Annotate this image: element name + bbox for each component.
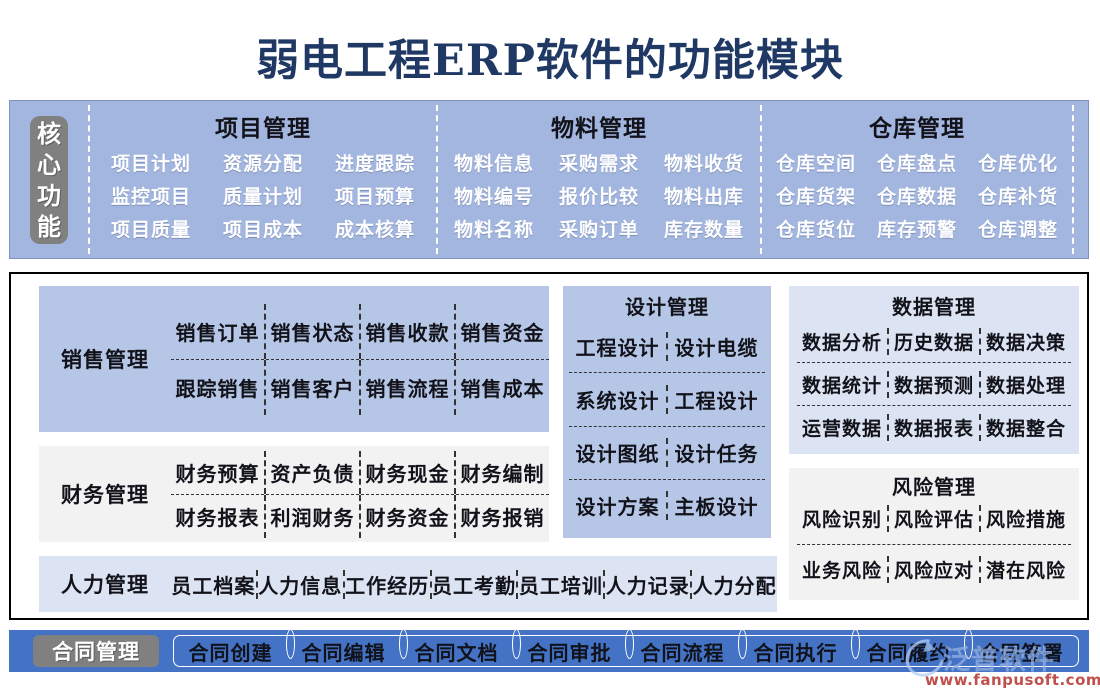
module-row: 数据统计 数据预测 数据处理 <box>797 362 1071 405</box>
group-row: 物料名称 采购订单 库存数量 <box>438 213 760 244</box>
group-item[interactable]: 仓库优化 <box>968 147 1069 178</box>
core-badge-char-2: 心 <box>37 149 61 180</box>
module-item[interactable]: 数据决策 <box>979 328 1071 355</box>
brand-url: www.fanpusoft.com <box>925 671 1100 689</box>
module-item[interactable]: 销售成本 <box>454 360 549 415</box>
module-item[interactable]: 数据预测 <box>887 371 979 398</box>
group-item[interactable]: 物料收货 <box>652 147 757 178</box>
module-label: 人力管理 <box>39 569 171 599</box>
diagram-canvas: 弱电工程ERP软件的功能模块 核 心 功 能 项目管理 项目计划 资源分配 进度… <box>0 0 1100 700</box>
core-badge-wrapper: 核 心 功 能 <box>10 101 88 258</box>
module-hr-management: 人力管理 员工档案 人力信息 工作经历 员工考勤 员工培训 人力记录 人力分配 <box>39 556 777 612</box>
group-row: 物料信息 采购需求 物料收货 <box>438 147 760 178</box>
group-item[interactable]: 库存预警 <box>867 213 968 244</box>
module-item[interactable]: 设计任务 <box>666 438 765 467</box>
group-item[interactable]: 仓库数据 <box>867 180 968 211</box>
module-item[interactable]: 财务报销 <box>454 495 549 538</box>
contract-item[interactable]: 合同签署 <box>965 637 1078 666</box>
modules-frame: 销售管理 销售订单 销售状态 销售收款 销售资金 跟踪销售 销售客户 销售流程 … <box>9 272 1089 620</box>
group-item[interactable]: 项目预算 <box>319 180 431 211</box>
group-item[interactable]: 进度跟踪 <box>319 147 431 178</box>
group-item[interactable]: 物料名称 <box>442 213 547 244</box>
group-row: 项目计划 资源分配 进度跟踪 <box>90 147 436 178</box>
module-item[interactable]: 历史数据 <box>887 328 979 355</box>
left-column: 销售管理 销售订单 销售状态 销售收款 销售资金 跟踪销售 销售客户 销售流程 … <box>39 286 549 612</box>
module-items: 员工档案 人力信息 工作经历 员工考勤 员工培训 人力记录 人力分配 <box>171 570 777 599</box>
module-label: 销售管理 <box>39 344 171 374</box>
module-design-management: 设计管理 工程设计 设计电缆 系统设计 工程设计 设计图纸 设计任务 <box>563 286 771 538</box>
core-badge-char-3: 功 <box>37 180 61 211</box>
contract-management-badge: 合同管理 <box>33 635 159 667</box>
module-item[interactable]: 员工培训 <box>516 570 603 599</box>
module-data-management: 数据管理 数据分析 历史数据 数据决策 数据统计 数据预测 数据处理 运营数据 <box>789 286 1079 454</box>
page-title: 弱电工程ERP软件的功能模块 <box>0 26 1100 88</box>
group-items: 物料信息 采购需求 物料收货 物料编号 报价比较 物料出库 物料名称 采购订单 … <box>438 147 760 244</box>
module-item[interactable]: 财务现金 <box>359 451 454 494</box>
module-item[interactable]: 风险识别 <box>797 505 887 532</box>
group-row: 仓库货位 库存预警 仓库调整 <box>762 213 1072 244</box>
module-item[interactable]: 财务编制 <box>454 451 549 494</box>
module-item[interactable]: 潜在风险 <box>979 556 1071 583</box>
group-row: 项目质量 项目成本 成本核算 <box>90 213 436 244</box>
group-item[interactable]: 物料信息 <box>442 147 547 178</box>
module-row: 设计图纸 设计任务 <box>569 426 765 479</box>
group-item[interactable]: 质量计划 <box>207 180 319 211</box>
group-items: 项目计划 资源分配 进度跟踪 监控项目 质量计划 项目预算 项目质量 项目成本 … <box>90 147 436 244</box>
contract-item[interactable]: 合同创建 <box>174 637 287 666</box>
middle-column: 设计管理 工程设计 设计电缆 系统设计 工程设计 设计图纸 设计任务 <box>563 286 771 538</box>
group-item[interactable]: 物料编号 <box>442 180 547 211</box>
module-title: 数据管理 <box>789 286 1079 320</box>
module-item[interactable]: 工程设计 <box>666 385 765 414</box>
group-item[interactable]: 项目成本 <box>207 213 319 244</box>
module-item[interactable]: 系统设计 <box>569 385 666 414</box>
group-item[interactable]: 库存数量 <box>652 213 757 244</box>
core-badge-char-4: 能 <box>37 211 61 242</box>
group-item[interactable]: 仓库空间 <box>766 147 867 178</box>
contract-item[interactable]: 合同编辑 <box>287 637 400 666</box>
module-item[interactable]: 人力分配 <box>690 570 777 599</box>
module-item[interactable]: 数据处理 <box>979 371 1071 398</box>
module-row: 工程设计 设计电缆 <box>569 320 765 372</box>
module-row: 运营数据 数据报表 数据整合 <box>797 405 1071 448</box>
group-row: 物料编号 报价比较 物料出库 <box>438 180 760 211</box>
group-title: 物料管理 <box>551 109 647 143</box>
group-item[interactable]: 物料出库 <box>652 180 757 211</box>
module-item[interactable]: 财务资金 <box>359 495 454 538</box>
module-item[interactable]: 销售收款 <box>359 304 454 359</box>
module-grid: 财务预算 资产负债 财务现金 财务编制 财务报表 利润财务 财务资金 财务报销 <box>171 451 549 538</box>
module-item[interactable]: 数据整合 <box>979 414 1071 441</box>
contract-item[interactable]: 合同文档 <box>400 637 513 666</box>
module-row: 财务预算 资产负债 财务现金 财务编制 <box>171 451 549 494</box>
module-grid: 工程设计 设计电缆 系统设计 工程设计 设计图纸 设计任务 设计方案 主板设计 <box>563 320 771 538</box>
group-title: 仓库管理 <box>869 109 965 143</box>
group-project-management: 项目管理 项目计划 资源分配 进度跟踪 监控项目 质量计划 项目预算 项目质量 … <box>90 101 436 258</box>
module-item[interactable]: 业务风险 <box>797 556 887 583</box>
module-label: 财务管理 <box>39 479 171 509</box>
module-item[interactable]: 工作经历 <box>343 570 430 599</box>
module-item[interactable]: 人力信息 <box>256 570 343 599</box>
group-item[interactable]: 仓库补货 <box>968 180 1069 211</box>
group-material-management: 物料管理 物料信息 采购需求 物料收货 物料编号 报价比较 物料出库 物料名称 … <box>438 101 760 258</box>
group-item[interactable]: 仓库货位 <box>766 213 867 244</box>
module-item[interactable]: 员工考勤 <box>430 570 517 599</box>
module-item[interactable]: 设计图纸 <box>569 438 666 467</box>
group-item[interactable]: 项目计划 <box>95 147 207 178</box>
module-item[interactable]: 设计电缆 <box>666 332 765 361</box>
contract-item[interactable]: 合同流程 <box>626 637 739 666</box>
contract-management-bar: 合同管理 合同创建 合同编辑 合同文档 合同审批 合同流程 合同执行 合同履约 … <box>9 630 1089 672</box>
group-title: 项目管理 <box>215 109 311 143</box>
group-row: 仓库空间 仓库盘点 仓库优化 <box>762 147 1072 178</box>
module-item[interactable]: 员工档案 <box>171 570 256 599</box>
module-sales-management: 销售管理 销售订单 销售状态 销售收款 销售资金 跟踪销售 销售客户 销售流程 … <box>39 286 549 432</box>
module-item[interactable]: 跟踪销售 <box>171 360 264 415</box>
module-item[interactable]: 数据分析 <box>797 328 887 355</box>
module-grid: 数据分析 历史数据 数据决策 数据统计 数据预测 数据处理 运营数据 数据报表 … <box>789 320 1079 454</box>
module-grid: 风险识别 风险评估 风险措施 业务风险 风险应对 潜在风险 <box>789 494 1079 600</box>
core-badge-char-1: 核 <box>37 118 61 149</box>
group-warehouse-management: 仓库管理 仓库空间 仓库盘点 仓库优化 仓库货架 仓库数据 仓库补货 仓库货位 … <box>762 101 1072 258</box>
module-item[interactable]: 设计方案 <box>569 491 666 520</box>
module-item[interactable]: 数据统计 <box>797 371 887 398</box>
group-item[interactable]: 报价比较 <box>547 180 652 211</box>
module-item[interactable]: 财务报表 <box>171 495 264 538</box>
group-item[interactable]: 仓库盘点 <box>867 147 968 178</box>
contract-item[interactable]: 合同执行 <box>739 637 852 666</box>
module-row: 风险识别 风险评估 风险措施 <box>797 494 1071 544</box>
group-item[interactable]: 仓库调整 <box>968 213 1069 244</box>
module-risk-management: 风险管理 风险识别 风险评估 风险措施 业务风险 风险应对 潜在风险 <box>789 468 1079 600</box>
module-item[interactable]: 销售流程 <box>359 360 454 415</box>
module-item[interactable]: 销售客户 <box>264 360 359 415</box>
contract-item[interactable]: 合同审批 <box>513 637 626 666</box>
contract-items-pill: 合同创建 合同编辑 合同文档 合同审批 合同流程 合同执行 合同履约 合同签署 <box>173 635 1079 667</box>
module-item[interactable]: 销售资金 <box>454 304 549 359</box>
module-row: 财务报表 利润财务 财务资金 财务报销 <box>171 494 549 538</box>
group-items: 仓库空间 仓库盘点 仓库优化 仓库货架 仓库数据 仓库补货 仓库货位 库存预警 … <box>762 147 1072 244</box>
group-item[interactable]: 资源分配 <box>207 147 319 178</box>
module-row: 数据分析 历史数据 数据决策 <box>797 320 1071 362</box>
group-item[interactable]: 采购需求 <box>547 147 652 178</box>
module-item[interactable]: 风险应对 <box>887 556 979 583</box>
module-item[interactable]: 数据报表 <box>887 414 979 441</box>
module-item[interactable]: 销售状态 <box>264 304 359 359</box>
contract-item[interactable]: 合同履约 <box>852 637 965 666</box>
group-item[interactable]: 项目质量 <box>95 213 207 244</box>
module-row: 设计方案 主板设计 <box>569 479 765 532</box>
group-item[interactable]: 成本核算 <box>319 213 431 244</box>
module-item[interactable]: 销售订单 <box>171 304 264 359</box>
module-item[interactable]: 人力记录 <box>603 570 690 599</box>
module-item[interactable]: 运营数据 <box>797 414 887 441</box>
module-item[interactable]: 财务预算 <box>171 451 264 494</box>
module-row: 业务风险 风险应对 潜在风险 <box>797 544 1071 595</box>
module-grid: 销售订单 销售状态 销售收款 销售资金 跟踪销售 销售客户 销售流程 销售成本 <box>171 304 549 415</box>
group-item[interactable]: 仓库货架 <box>766 180 867 211</box>
module-finance-management: 财务管理 财务预算 资产负债 财务现金 财务编制 财务报表 利润财务 财务资金 … <box>39 446 549 542</box>
module-item[interactable]: 工程设计 <box>569 332 666 361</box>
group-row: 仓库货架 仓库数据 仓库补货 <box>762 180 1072 211</box>
module-row: 销售订单 销售状态 销售收款 销售资金 <box>171 304 549 359</box>
module-item[interactable]: 资产负债 <box>264 451 359 494</box>
module-title: 设计管理 <box>563 286 771 320</box>
module-item[interactable]: 利润财务 <box>264 495 359 538</box>
module-item[interactable]: 风险措施 <box>979 505 1071 532</box>
band-divider <box>1072 105 1074 254</box>
module-item[interactable]: 主板设计 <box>666 491 765 520</box>
group-row: 监控项目 质量计划 项目预算 <box>90 180 436 211</box>
module-item[interactable]: 风险评估 <box>887 505 979 532</box>
right-column: 数据管理 数据分析 历史数据 数据决策 数据统计 数据预测 数据处理 运营数据 <box>789 286 1079 600</box>
core-functions-band: 核 心 功 能 项目管理 项目计划 资源分配 进度跟踪 监控项目 质量计划 项目… <box>9 100 1089 259</box>
group-item[interactable]: 监控项目 <box>95 180 207 211</box>
module-row: 跟踪销售 销售客户 销售流程 销售成本 <box>171 359 549 415</box>
module-row: 系统设计 工程设计 <box>569 372 765 425</box>
group-item[interactable]: 采购订单 <box>547 213 652 244</box>
core-functions-badge: 核 心 功 能 <box>30 116 68 244</box>
